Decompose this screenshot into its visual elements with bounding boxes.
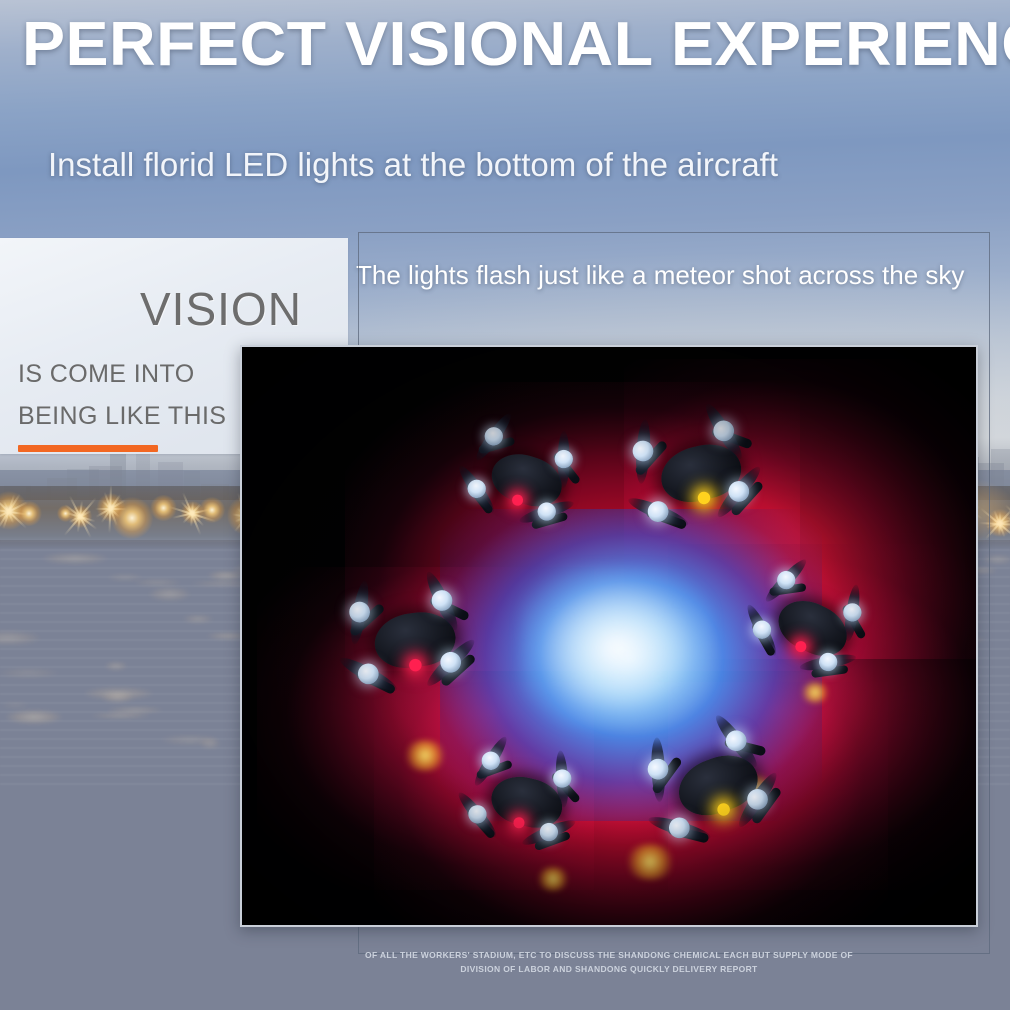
accent-underline — [18, 445, 158, 452]
light-reflection — [134, 579, 182, 586]
light-reflection — [107, 707, 163, 713]
light-reflection — [6, 710, 62, 723]
drone-photo-canvas — [242, 347, 976, 925]
promo-banner: PERFECT VISIONAL EXPERIENCE Install flor… — [0, 0, 1010, 1010]
photo-caption: OF ALL THE WORKERS' STADIUM, ETC TO DISC… — [240, 948, 978, 976]
light-reflection — [102, 692, 133, 703]
subheadline: Install florid LED lights at the bottom … — [48, 148, 778, 181]
light-reflection — [2, 702, 29, 707]
city-light — [199, 497, 225, 523]
vision-line-1: IS COME INTO — [18, 362, 195, 387]
light-reflection — [0, 668, 59, 678]
drone-photo — [240, 345, 978, 927]
vision-title: VISION — [140, 286, 302, 332]
light-reflection — [149, 587, 189, 600]
light-reflection — [183, 615, 213, 623]
light-reflection — [42, 553, 108, 564]
caption-line-2: DIVISION OF LABOR AND SHANDONG QUICKLY D… — [240, 962, 978, 976]
page-title: PERFECT VISIONAL EXPERIENCE — [22, 14, 1010, 76]
city-light — [111, 497, 153, 539]
city-light — [16, 501, 41, 526]
vision-line-2: BEING LIKE THIS — [18, 404, 226, 429]
photo-vignette — [242, 347, 976, 925]
light-reflection — [200, 738, 220, 749]
caption-line-1: OF ALL THE WORKERS' STADIUM, ETC TO DISC… — [240, 948, 978, 962]
light-reflection — [91, 713, 151, 718]
